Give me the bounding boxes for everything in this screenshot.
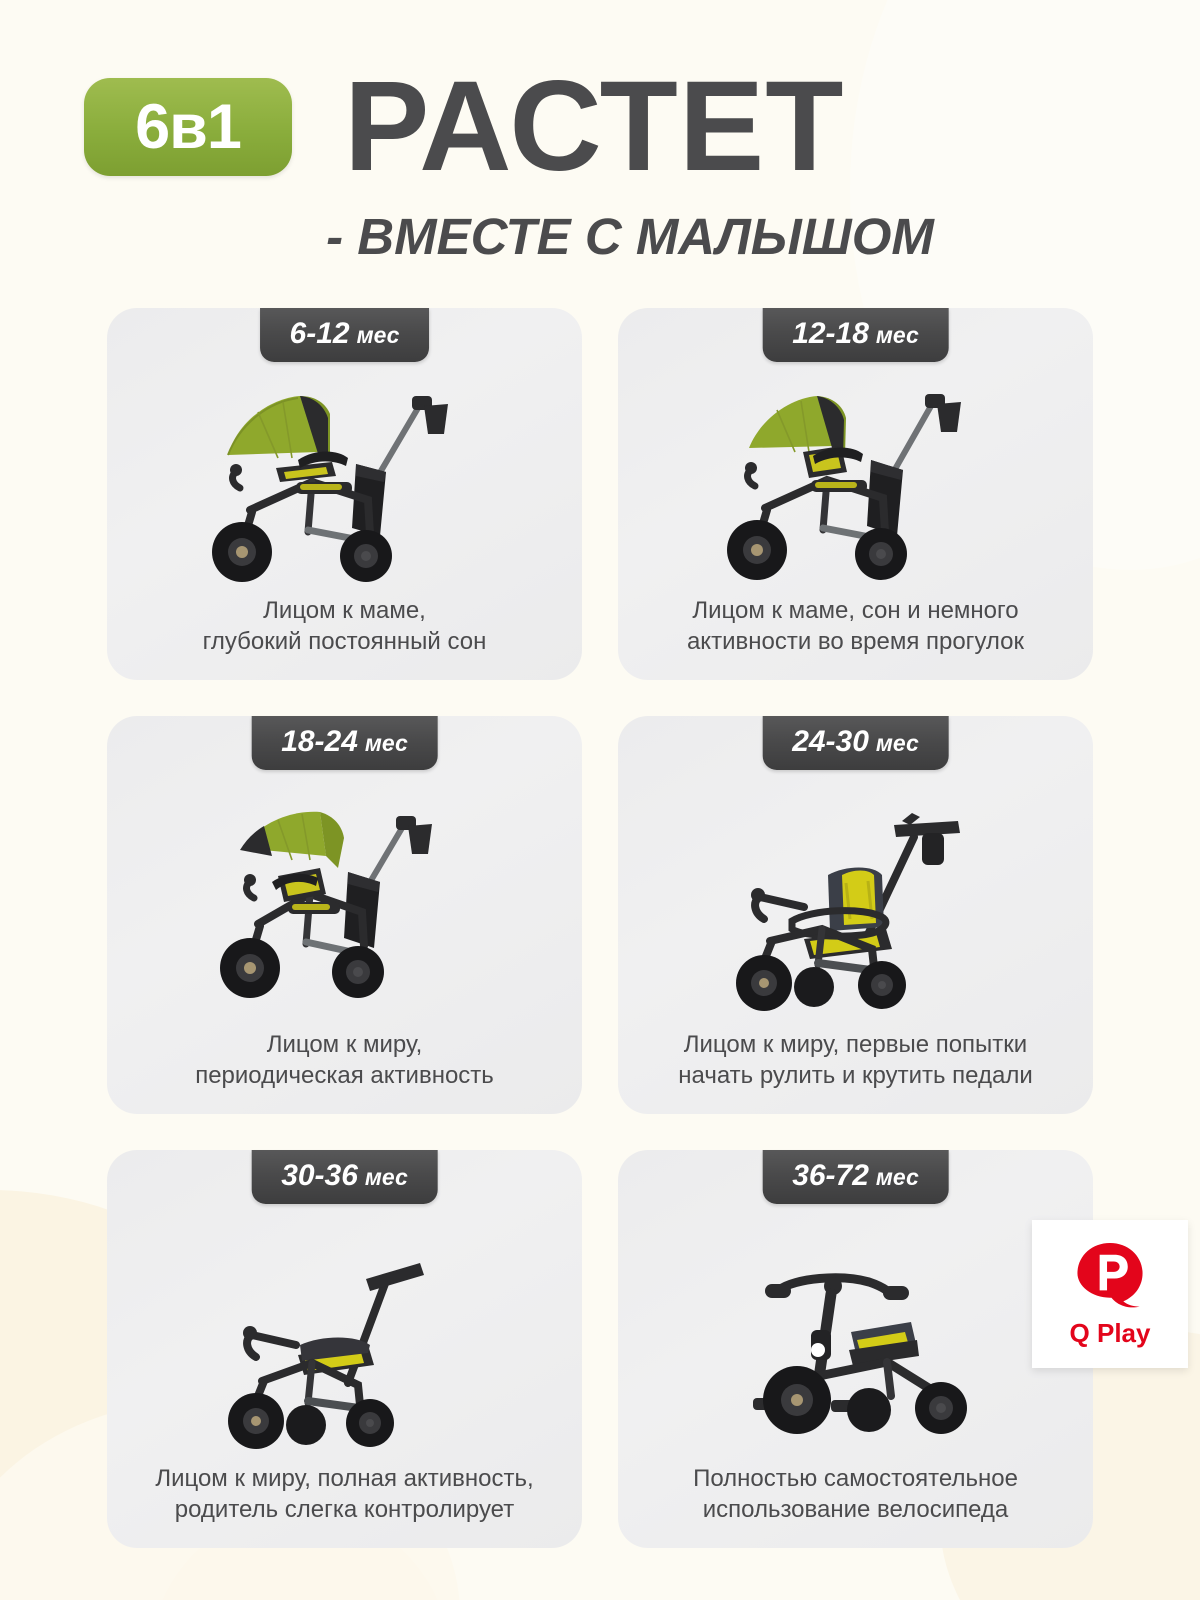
trike-with-handle-icon [180,1205,510,1455]
age-range-label: 36-72 [792,1159,869,1192]
stage-caption: Лицом к маме, сон и немного активности в… [669,596,1042,679]
stage-card-grid: 6-12мес [0,308,1200,1548]
trike-solo-icon [691,1210,1021,1450]
trike-with-seat-handle-icon [696,771,1016,1021]
age-badge: 24-30мес [762,716,949,770]
age-range-label: 12-18 [792,317,869,350]
header: 6в1 РАСТЕТ - ВМЕСТЕ С МАЛЫШОМ [0,0,1200,266]
age-unit-label: мес [365,730,408,756]
brand-logo: Q Play [1032,1220,1188,1368]
age-badge: 18-24мес [251,716,438,770]
stage-card: 6-12мес [107,308,582,680]
age-badge: 6-12мес [260,308,430,362]
stage-card: 24-30мес [618,716,1093,1114]
product-photo [618,354,1093,597]
age-unit-label: мес [876,1164,919,1190]
product-photo [107,1196,582,1465]
product-photo [618,762,1093,1031]
age-range-label: 24-30 [792,725,869,758]
age-unit-label: мес [365,1164,408,1190]
age-range-label: 18-24 [281,725,358,758]
product-photo [107,762,582,1031]
stage-caption: Лицом к маме, глубокий постоянный сон [185,596,505,679]
trike-stroller-upright-rear-icon [691,360,1021,590]
qplay-speech-bubble-icon [1073,1240,1147,1314]
six-in-one-badge-label: 6в1 [135,96,241,159]
stage-caption: Лицом к миру, полная активность, родител… [137,1464,551,1547]
age-unit-label: мес [876,322,919,348]
trike-stroller-recline-rear-icon [180,360,510,590]
stage-card: 36-72мес [618,1150,1093,1548]
stage-card: 18-24мес [107,716,582,1114]
stage-caption: Лицом к миру, первые попытки начать рули… [660,1030,1050,1113]
age-badge: 12-18мес [762,308,949,362]
age-range-label: 6-12 [290,317,350,350]
stage-caption: Полностью самостоятельное использование … [675,1464,1036,1547]
title-row: 6в1 РАСТЕТ [0,66,1200,189]
stage-card: 12-18мес [618,308,1093,680]
page-subtitle: - ВМЕСТЕ С МАЛЫШОМ [0,207,1200,266]
six-in-one-badge: 6в1 [84,78,292,176]
trike-stroller-forward-canopy-icon [180,776,510,1016]
stage-caption: Лицом к миру, периодическая активность [177,1030,512,1113]
age-range-label: 30-36 [281,1159,358,1192]
age-badge: 30-36мес [251,1150,438,1204]
product-photo [618,1196,1093,1465]
page-title: РАСТЕТ [344,66,844,189]
stage-card: 30-36мес [107,1150,582,1548]
product-photo [107,354,582,597]
age-unit-label: мес [876,730,919,756]
age-badge: 36-72мес [762,1150,949,1204]
age-unit-label: мес [357,322,400,348]
brand-wordmark: Q Play [1070,1318,1151,1349]
